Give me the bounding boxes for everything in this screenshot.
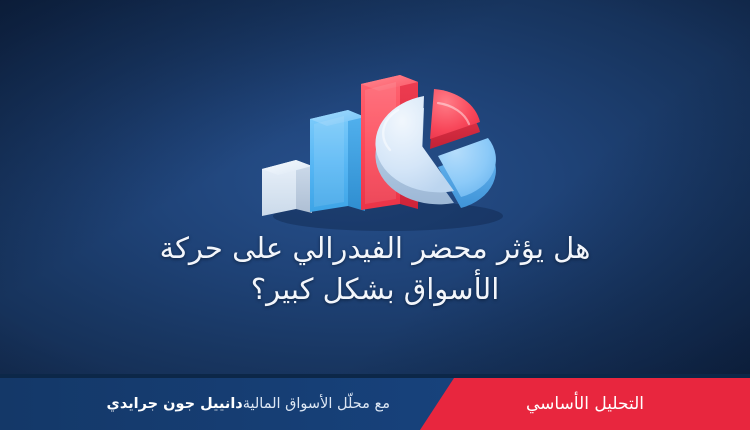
footer-bar: التحليل الأساسي مع محلّل الأسواق المالية… <box>0 378 750 430</box>
byline-lead: مع محلّل الأسواق المالية <box>243 396 390 412</box>
byline-name: دانييل جون جرايدي <box>107 396 243 412</box>
category-label-text: التحليل الأساسي <box>526 394 644 414</box>
bar-small-pale <box>262 160 312 216</box>
byline: مع محلّل الأسواق المالية دانييل جون جراي… <box>101 378 390 430</box>
headline-line-2: الأسواق بشكل كبير؟ <box>118 269 632 310</box>
chart-illustration <box>248 64 516 229</box>
headline: هل يؤثر محضر الفيدرالي على حركة الأسواق … <box>0 228 750 310</box>
headline-line-1: هل يؤثر محضر الفيدرالي على حركة <box>118 228 632 269</box>
slice-red-exploded <box>430 89 480 149</box>
promo-card: هل يؤثر محضر الفيدرالي على حركة الأسواق … <box>0 0 750 430</box>
bar-medium-blue <box>310 110 365 212</box>
category-label: التحليل الأساسي <box>420 378 750 430</box>
